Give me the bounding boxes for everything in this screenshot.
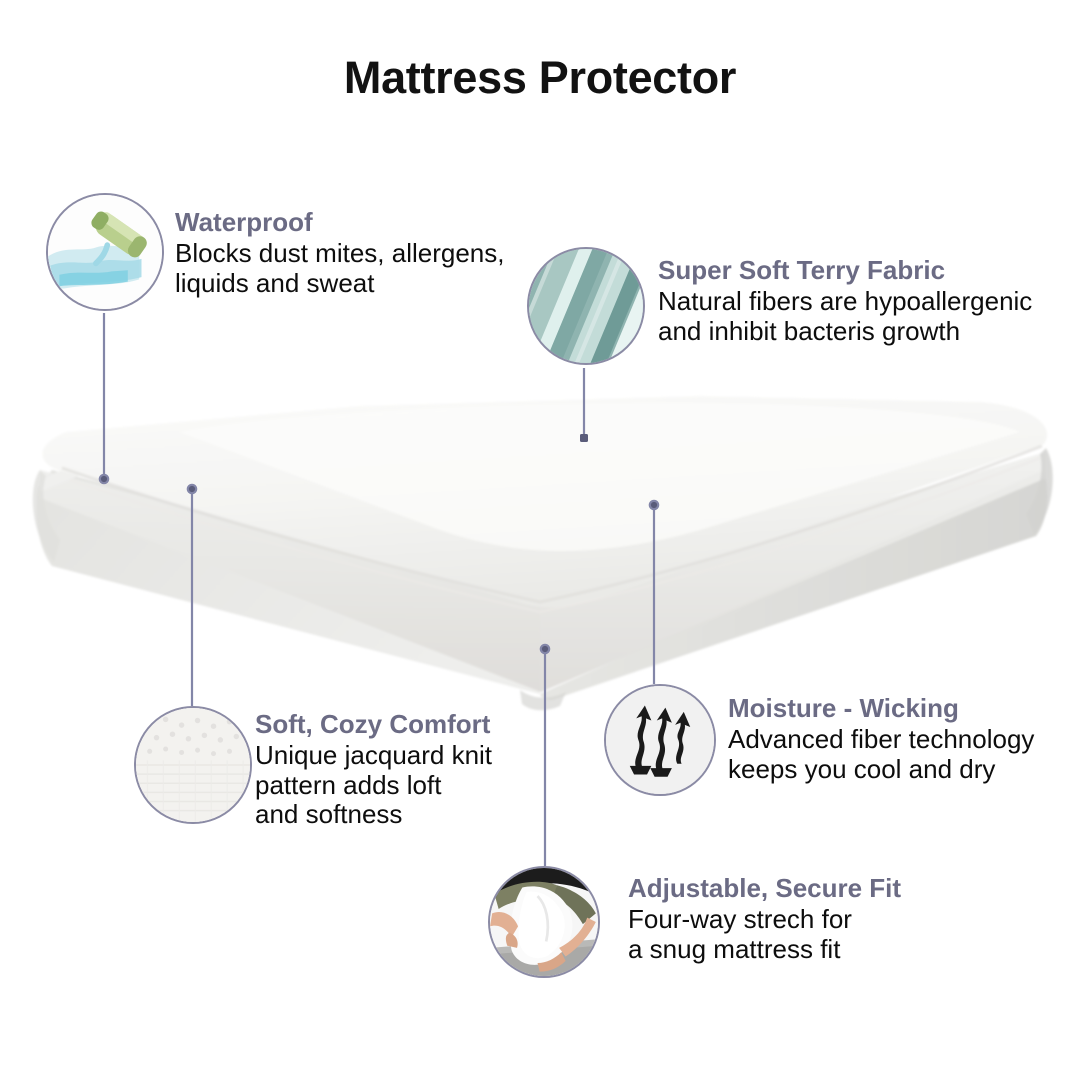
- feature-description: Four-way strech for a snug mattress fit: [628, 905, 1008, 964]
- infographic-canvas: Mattress Protector: [0, 0, 1080, 1080]
- feature-adjustable-secure-fit: Adjustable, Secure Fit Four-way strech f…: [0, 0, 1080, 1080]
- adjustable-fit-text-block: Adjustable, Secure Fit Four-way strech f…: [628, 874, 1008, 964]
- adjustable-fit-hands-icon: [488, 866, 600, 978]
- feature-title: Adjustable, Secure Fit: [628, 874, 1008, 903]
